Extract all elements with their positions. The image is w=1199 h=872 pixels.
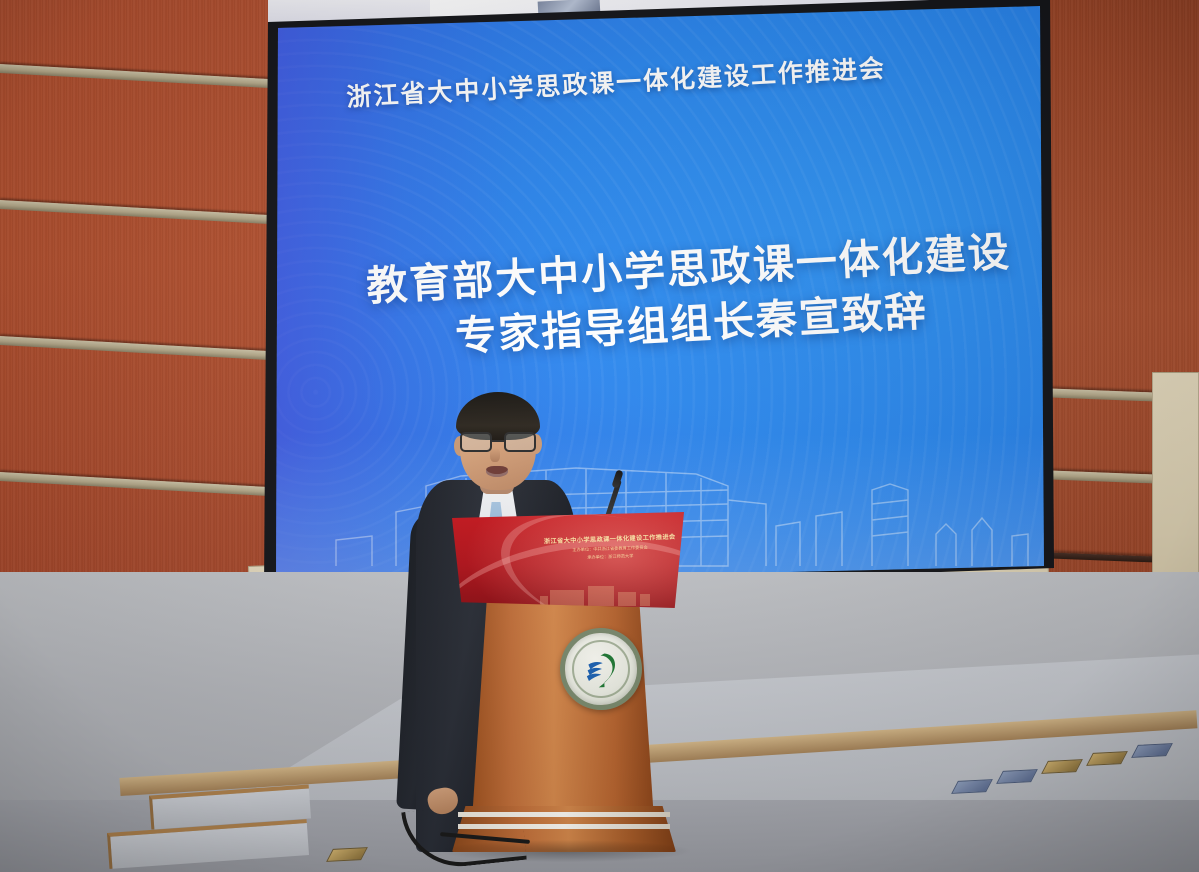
podium-banner: 浙江省大中小学思政课一体化建设工作推进会 主办单位：中共浙江省委教育工作委员会 … (452, 512, 684, 608)
speaker-mouth (486, 466, 508, 477)
conference-hall-photo: 浙江省大中小学思政课一体化建设工作推进会 教育部大中小学思政课一体化建设 专家指… (0, 0, 1199, 872)
podium-banner-text: 浙江省大中小学思政课一体化建设工作推进会 主办单位：中共浙江省委教育工作委员会 … (540, 532, 681, 563)
emblem-glyph-icon (576, 644, 626, 694)
glasses-bridge (492, 440, 506, 442)
eyeglasses-icon (458, 432, 540, 454)
glasses-lens-right (504, 432, 536, 452)
banner-city-icon (532, 580, 672, 606)
glasses-lens-left (460, 432, 492, 452)
led-screen[interactable]: 浙江省大中小学思政课一体化建设工作推进会 教育部大中小学思政课一体化建设 专家指… (276, 6, 1044, 584)
